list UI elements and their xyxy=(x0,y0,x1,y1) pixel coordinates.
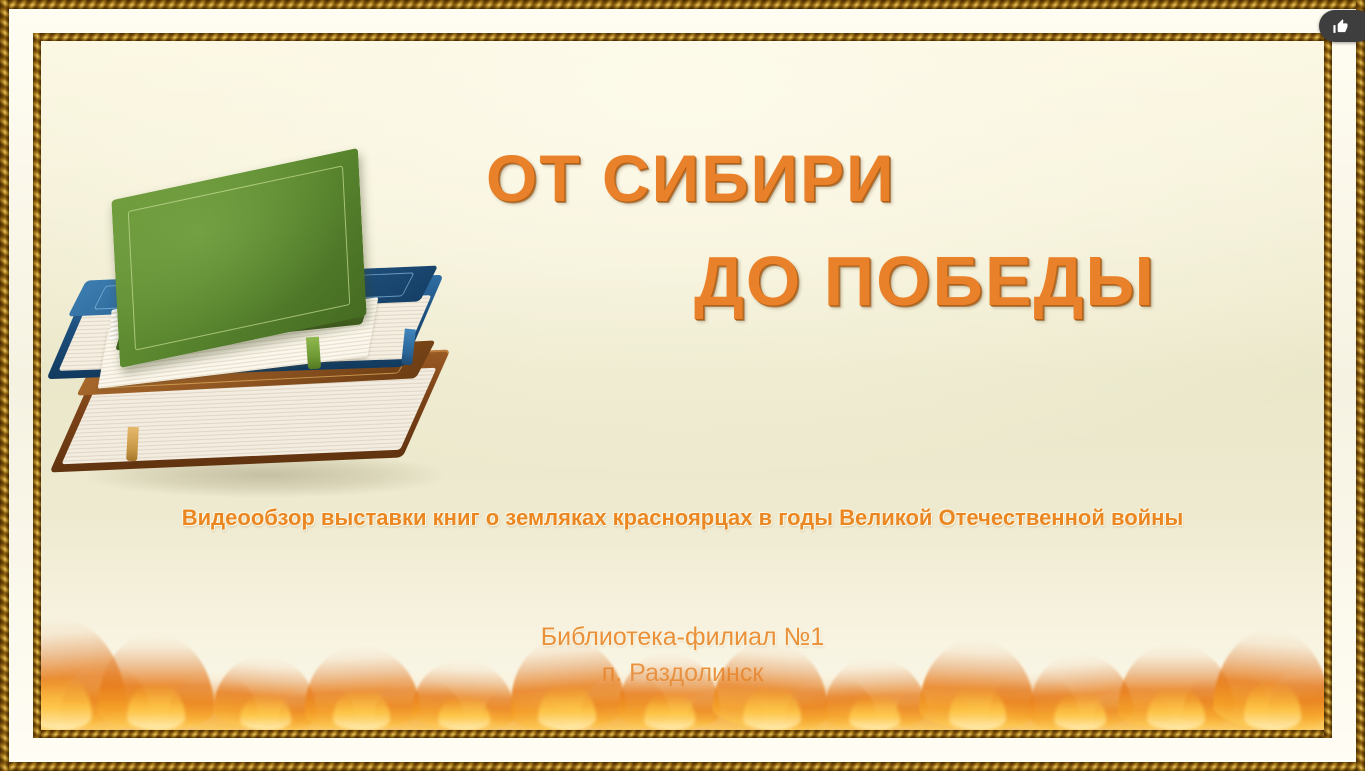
book-stack-illustration xyxy=(61,161,481,501)
flame-core xyxy=(1148,687,1206,730)
flame-core xyxy=(849,694,900,730)
like-badge[interactable] xyxy=(1319,10,1365,42)
frame-inner-top xyxy=(33,33,1332,41)
credit-line-1: Библиотека-филиал №1 xyxy=(41,619,1324,655)
frame-outer-right xyxy=(1356,0,1365,771)
frame-inner-right xyxy=(1324,33,1332,738)
frame-outer-top xyxy=(0,0,1365,9)
frame-outer-left xyxy=(0,0,9,771)
title-line-1: ОТ СИБИРИ xyxy=(486,140,895,216)
flame-core xyxy=(439,695,490,730)
flame-tongue xyxy=(688,687,767,730)
frame-inner-bottom xyxy=(33,730,1332,738)
title-line-2: ДО ПОБЕДЫ xyxy=(694,241,1156,321)
credit-line-2: п. Раздолинск xyxy=(41,655,1324,691)
flame-core xyxy=(240,693,291,730)
flame-core xyxy=(949,685,1007,730)
green-book-bookmark xyxy=(306,337,321,370)
flame-core xyxy=(1055,692,1106,730)
thumbs-up-icon xyxy=(1332,18,1349,35)
frame-inner-left xyxy=(33,33,41,738)
flame-core xyxy=(743,686,801,730)
slide-subtitle: Видеообзор выставки книг о земляках крас… xyxy=(41,501,1324,535)
video-frame: ОТ СИБИРИ ДО ПОБЕДЫ Видеообзор выставки … xyxy=(0,0,1365,771)
flame-core xyxy=(644,691,695,730)
frame-outer-bottom xyxy=(0,762,1365,771)
flame-core xyxy=(333,688,391,730)
flame-tongue xyxy=(1092,685,1171,730)
slide-credit: Библиотека-филиал №1 п. Раздолинск xyxy=(41,619,1324,691)
brown-book-bookmark xyxy=(126,427,139,462)
slide-canvas: ОТ СИБИРИ ДО ПОБЕДЫ Видеообзор выставки … xyxy=(41,41,1324,730)
